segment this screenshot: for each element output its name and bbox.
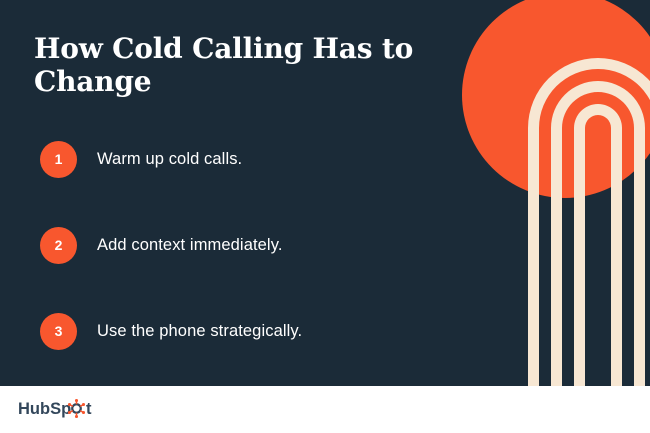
list-item-label: Warm up cold calls. bbox=[97, 150, 242, 169]
list-item: 1 Warm up cold calls. bbox=[40, 128, 460, 190]
hubspot-wordmark-part1: HubSp bbox=[18, 400, 71, 418]
page-title: How Cold Calling Has to Change bbox=[34, 32, 454, 98]
list-item: 3 Use the phone strategically. bbox=[40, 300, 460, 362]
list-item-number-badge: 2 bbox=[40, 227, 77, 264]
numbered-list: 1 Warm up cold calls. 2 Add context imme… bbox=[40, 128, 460, 362]
hubspot-wordmark-part2: t bbox=[86, 400, 92, 418]
slide-root: How Cold Calling Has to Change 1 Warm up… bbox=[0, 0, 650, 433]
decorative-artwork bbox=[440, 0, 650, 386]
list-item-number-badge: 3 bbox=[40, 313, 77, 350]
list-item-label: Add context immediately. bbox=[97, 236, 283, 255]
slide-canvas: How Cold Calling Has to Change 1 Warm up… bbox=[0, 0, 650, 386]
hubspot-logo-icon: HubSp t bbox=[18, 396, 110, 422]
hubspot-logo: HubSp t bbox=[18, 395, 110, 423]
list-item-number-badge: 1 bbox=[40, 141, 77, 178]
decorative-artwork-svg bbox=[440, 0, 650, 386]
list-item: 2 Add context immediately. bbox=[40, 214, 460, 276]
footer-bar: HubSp t bbox=[0, 386, 650, 433]
list-item-label: Use the phone strategically. bbox=[97, 322, 302, 341]
